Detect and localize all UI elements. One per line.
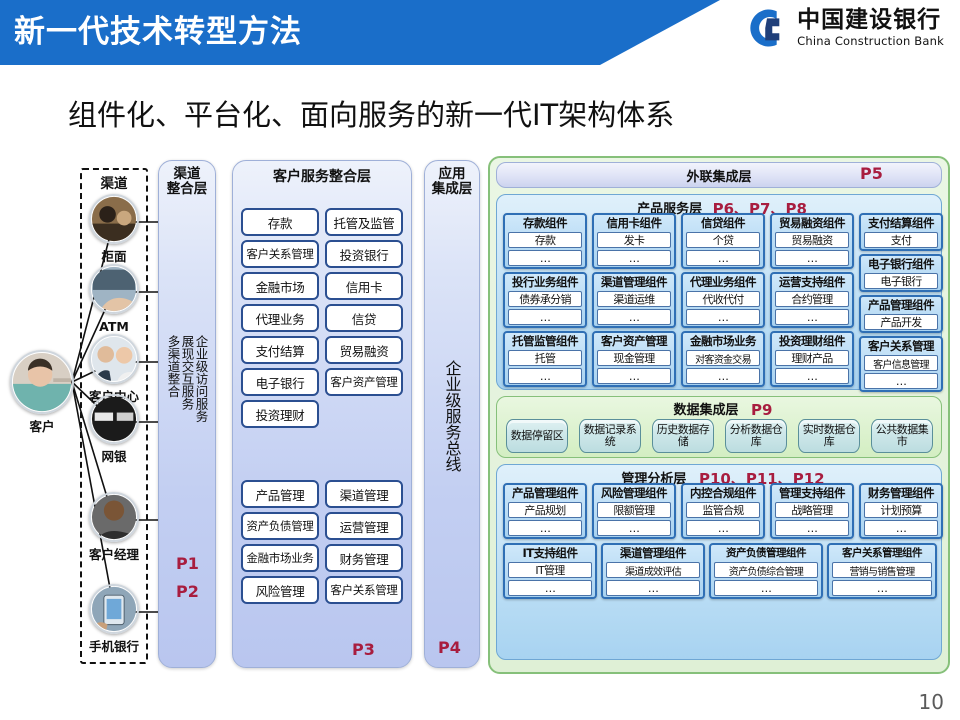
component-item[interactable]: 战略管理 — [775, 502, 849, 518]
service-cell[interactable]: 产品管理 — [241, 480, 319, 508]
product-component[interactable]: 渠道管理组件渠道运维… — [592, 272, 676, 328]
component-header: 资产负债管理组件 — [714, 547, 818, 560]
component-item[interactable]: 监管合规 — [686, 502, 760, 518]
product-component[interactable]: 支付结算组件支付 — [859, 213, 943, 251]
counter-photo-icon — [89, 194, 139, 244]
component-item[interactable]: … — [508, 309, 582, 325]
component-item[interactable]: … — [775, 520, 849, 536]
service-cell[interactable]: 客户关系管理 — [325, 576, 403, 604]
service-cell[interactable]: 资产负债管理 — [241, 512, 319, 540]
component-item[interactable]: … — [606, 580, 700, 596]
component-item[interactable]: 产品规划 — [508, 502, 582, 518]
component-item[interactable]: … — [864, 520, 938, 536]
component-item[interactable]: 电子银行 — [864, 273, 938, 289]
component-item[interactable]: 代收代付 — [686, 291, 760, 307]
component-item[interactable]: 债券承分销 — [508, 291, 582, 307]
channel-item-mobile-bank[interactable]: 手机银行 — [80, 584, 148, 653]
management-component[interactable]: 产品管理组件产品规划… — [503, 483, 587, 539]
channel-group-title: 渠道 — [80, 172, 148, 192]
service-cell[interactable]: 客户关系管理 — [241, 240, 319, 268]
component-header: 金融市场业务 — [686, 335, 760, 348]
management-component[interactable]: 内控合规组件监管合规… — [681, 483, 765, 539]
component-header: 投资理财组件 — [775, 335, 849, 348]
data-store[interactable]: 数据停留区 — [506, 419, 568, 453]
channel-item-counter[interactable]: 柜面 — [80, 194, 148, 263]
channel-item-atm[interactable]: ATM — [80, 264, 148, 333]
component-header: 内控合规组件 — [686, 487, 760, 500]
component-header: 客户资产管理 — [597, 335, 671, 348]
product-component[interactable]: 存款组件存款… — [503, 213, 587, 269]
service-cell[interactable]: 托管及监管 — [325, 208, 403, 236]
component-item[interactable]: … — [597, 368, 671, 384]
component-item[interactable]: … — [508, 520, 582, 536]
component-item[interactable]: 支付 — [864, 232, 938, 248]
service-cell[interactable]: 投资理财 — [241, 400, 319, 428]
management-component[interactable]: 渠道管理组件渠道成效评估… — [601, 543, 705, 599]
component-item[interactable]: 营销与销售管理 — [832, 562, 932, 578]
atm-photo-icon — [89, 264, 139, 314]
component-header: 贸易融资组件 — [775, 217, 849, 230]
bank-name-cn: 中国建设银行 — [797, 9, 944, 32]
product-component[interactable]: 运营支持组件合约管理… — [770, 272, 854, 328]
customer-label: 客户 — [8, 420, 76, 433]
component-header: 信用卡组件 — [597, 217, 671, 230]
component-item[interactable]: … — [775, 368, 849, 384]
channel-label: 网银 — [80, 450, 148, 463]
component-item[interactable]: 合约管理 — [775, 291, 849, 307]
component-item[interactable]: … — [597, 250, 671, 266]
slide-subtitle: 组件化、平台化、面向服务的新一代IT架构体系 — [68, 92, 674, 134]
component-item[interactable]: 客户信息管理 — [864, 355, 938, 371]
channel-label: ATM — [80, 320, 148, 333]
product-component[interactable]: 客户资产管理现金管理… — [592, 331, 676, 387]
service-cell[interactable]: 财务管理 — [325, 544, 403, 572]
service-cell[interactable]: 电子银行 — [241, 368, 319, 396]
service-cell[interactable]: 运营管理 — [325, 512, 403, 540]
component-item[interactable]: 限额管理 — [597, 502, 671, 518]
management-component[interactable]: IT支持组件IT管理… — [503, 543, 597, 599]
service-cell[interactable]: 风险管理 — [241, 576, 319, 604]
component-header: IT支持组件 — [508, 547, 592, 560]
product-component[interactable]: 托管监管组件托管… — [503, 331, 587, 387]
vertical-text-1: 展现交互服务 — [181, 335, 194, 515]
data-integration-title: 数据集成层 P9 — [497, 397, 941, 418]
management-component[interactable]: 风险管理组件限额管理… — [592, 483, 676, 539]
component-item[interactable]: 托管 — [508, 350, 582, 366]
component-item[interactable]: … — [686, 368, 760, 384]
component-header: 客户关系管理 — [864, 340, 938, 353]
mobile-bank-photo-icon — [89, 584, 139, 634]
channel-layer-vertical-texts: 企业级访问服务 展现交互服务 多渠道整合 — [158, 335, 216, 515]
management-component[interactable]: 资产负债管理组件资产负债综合管理… — [709, 543, 823, 599]
management-analysis-layer[interactable]: 管理分析层 P10、P11、P12 产品管理组件产品规划…风险管理组件限额管理…… — [496, 464, 942, 660]
component-header: 管理支持组件 — [775, 487, 849, 500]
component-header: 代理业务组件 — [686, 276, 760, 289]
customer-node: 客户 — [8, 350, 76, 433]
product-component[interactable]: 投行业务组件债券承分销… — [503, 272, 587, 328]
component-item[interactable]: … — [686, 309, 760, 325]
data-store[interactable]: 分析数据仓库 — [725, 419, 787, 453]
data-store[interactable]: 实时数据仓库 — [798, 419, 860, 453]
channel-item-online-bank[interactable]: 网银 — [80, 394, 148, 463]
online-bank-photo-icon — [89, 394, 139, 444]
component-header: 投行业务组件 — [508, 276, 582, 289]
component-header: 客户关系管理组件 — [832, 547, 932, 560]
product-service-layer[interactable]: 产品服务层 P6、P7、P8 存款组件存款…投行业务组件债券承分销…托管监管组件… — [496, 194, 942, 390]
vertical-text-0: 企业级访问服务 — [195, 335, 208, 515]
channel-item-account-manager[interactable]: 客户经理 — [80, 492, 148, 561]
component-header: 信贷组件 — [686, 217, 760, 230]
component-item[interactable]: 产品开发 — [864, 314, 938, 330]
architecture-diagram: 客户 渠道 柜面 ATM 客户中心 — [0, 150, 960, 695]
ccb-logo: 中国建设银行 China Construction Bank — [745, 6, 944, 50]
component-item[interactable]: … — [508, 368, 582, 384]
product-component[interactable]: 代理业务组件代收代付… — [681, 272, 765, 328]
component-header: 电子银行组件 — [864, 258, 938, 271]
component-item[interactable]: … — [508, 250, 582, 266]
component-item[interactable]: … — [686, 250, 760, 266]
p-label-p5: P5 — [860, 164, 883, 183]
component-item[interactable]: IT管理 — [508, 562, 592, 578]
title-line-1: 应用 — [425, 167, 479, 182]
component-item[interactable]: 存款 — [508, 232, 582, 248]
esb-vertical-text: 企业级服务总线 — [444, 360, 461, 472]
ccb-logo-text: 中国建设银行 China Construction Bank — [797, 9, 944, 48]
data-store[interactable]: 历史数据存储 — [652, 419, 714, 453]
service-cell[interactable]: 信贷 — [325, 304, 403, 332]
service-cell[interactable]: 贸易融资 — [325, 336, 403, 364]
component-item[interactable]: 发卡 — [597, 232, 671, 248]
customer-service-group-1: 存款托管及监管客户关系管理投资银行金融市场信用卡代理业务信贷支付结算贸易融资电子… — [241, 208, 403, 428]
page-header: 新一代技术转型方法 中国建设银行 China Construction Bank — [0, 0, 960, 65]
component-item[interactable]: 计划预算 — [864, 502, 938, 518]
channel-integration-title: 渠道 整合层 — [159, 161, 215, 197]
customer-service-group-2: 产品管理渠道管理资产负债管理运营管理金融市场业务财务管理风险管理客户关系管理 — [241, 480, 403, 604]
component-item[interactable]: 资产负债综合管理 — [714, 562, 818, 578]
component-header: 产品管理组件 — [508, 487, 582, 500]
component-item[interactable]: 贸易融资 — [775, 232, 849, 248]
component-item[interactable]: 理财产品 — [775, 350, 849, 366]
p-label-p2: P2 — [176, 582, 199, 601]
p-label-p3: P3 — [352, 640, 375, 659]
product-component[interactable]: 电子银行组件电子银行 — [859, 254, 943, 292]
service-cell[interactable]: 金融市场 — [241, 272, 319, 300]
component-item[interactable]: … — [832, 580, 932, 596]
product-component[interactable]: 产品管理组件产品开发 — [859, 295, 943, 333]
component-header: 产品管理组件 — [864, 299, 938, 312]
product-component[interactable]: 金融市场业务对客资金交易… — [681, 331, 765, 387]
bank-name-en: China Construction Bank — [797, 36, 944, 48]
management-component[interactable]: 客户关系管理组件营销与销售管理… — [827, 543, 937, 599]
channel-label: 客户经理 — [80, 548, 148, 561]
p-label-p4: P4 — [438, 638, 461, 657]
esb-vertical-text-wrap: 企业级服务总线 — [424, 360, 480, 472]
service-cell[interactable]: 存款 — [241, 208, 319, 236]
product-component[interactable]: 贸易融资组件贸易融资… — [770, 213, 854, 269]
data-integration-layer[interactable]: 数据集成层 P9 数据停留区数据记录系统历史数据存储分析数据仓库实时数据仓库公共… — [496, 396, 942, 458]
service-cell[interactable]: 金融市场业务 — [241, 544, 319, 572]
product-component[interactable]: 投资理财组件理财产品… — [770, 331, 854, 387]
product-component[interactable]: 信贷组件个贷… — [681, 213, 765, 269]
component-item[interactable]: … — [714, 580, 818, 596]
component-item[interactable]: … — [597, 309, 671, 325]
component-item[interactable]: … — [597, 520, 671, 536]
data-store[interactable]: 数据记录系统 — [579, 419, 641, 453]
component-item[interactable]: 对客资金交易 — [686, 350, 760, 366]
service-cell[interactable]: 客户资产管理 — [325, 368, 403, 396]
title-line-2: 集成层 — [425, 182, 479, 197]
account-manager-photo-icon — [89, 492, 139, 542]
channel-label: 柜面 — [80, 250, 148, 263]
product-component[interactable]: 信用卡组件发卡… — [592, 213, 676, 269]
product-component[interactable]: 客户关系管理客户信息管理… — [859, 336, 943, 392]
management-component[interactable]: 管理支持组件战略管理… — [770, 483, 854, 539]
component-header: 存款组件 — [508, 217, 582, 230]
component-header: 渠道管理组件 — [597, 276, 671, 289]
customer-service-title: 客户服务整合层 — [233, 161, 411, 185]
component-item[interactable]: … — [686, 520, 760, 536]
component-header: 渠道管理组件 — [606, 547, 700, 560]
data-integration-title-text: 数据集成层 — [674, 403, 739, 418]
component-item[interactable]: … — [775, 250, 849, 266]
component-header: 托管监管组件 — [508, 335, 582, 348]
ccb-logo-mark — [745, 6, 789, 50]
component-item[interactable]: 渠道运维 — [597, 291, 671, 307]
component-item[interactable]: … — [775, 309, 849, 325]
component-header: 财务管理组件 — [864, 487, 938, 500]
component-item[interactable]: 个贷 — [686, 232, 760, 248]
channel-label: 手机银行 — [80, 640, 148, 653]
vertical-text-2: 多渠道整合 — [167, 335, 180, 515]
component-header: 运营支持组件 — [775, 276, 849, 289]
service-cell[interactable]: 投资银行 — [325, 240, 403, 268]
service-cell[interactable]: 信用卡 — [325, 272, 403, 300]
component-item[interactable]: … — [508, 580, 592, 596]
component-item[interactable]: 现金管理 — [597, 350, 671, 366]
page-number: 10 — [919, 690, 944, 714]
channel-item-call-center[interactable]: 客户中心 — [80, 334, 148, 403]
data-store[interactable]: 公共数据集市 — [871, 419, 933, 453]
service-cell[interactable]: 支付结算 — [241, 336, 319, 364]
service-cell[interactable]: 渠道管理 — [325, 480, 403, 508]
component-header: 支付结算组件 — [864, 217, 938, 230]
p-label-p1: P1 — [176, 554, 199, 573]
page-title: 新一代技术转型方法 — [14, 8, 302, 56]
component-item[interactable]: 渠道成效评估 — [606, 562, 700, 578]
title-line-2: 整合层 — [159, 182, 215, 197]
component-item[interactable]: … — [864, 373, 938, 389]
management-component[interactable]: 财务管理组件计划预算… — [859, 483, 943, 539]
service-cell[interactable]: 代理业务 — [241, 304, 319, 332]
call-center-photo-icon — [89, 334, 139, 384]
customer-avatar — [10, 350, 74, 414]
component-header: 风险管理组件 — [597, 487, 671, 500]
p-label-p9: P9 — [751, 401, 772, 419]
application-integration-title: 应用 集成层 — [425, 161, 479, 197]
title-line-1: 渠道 — [159, 167, 215, 182]
